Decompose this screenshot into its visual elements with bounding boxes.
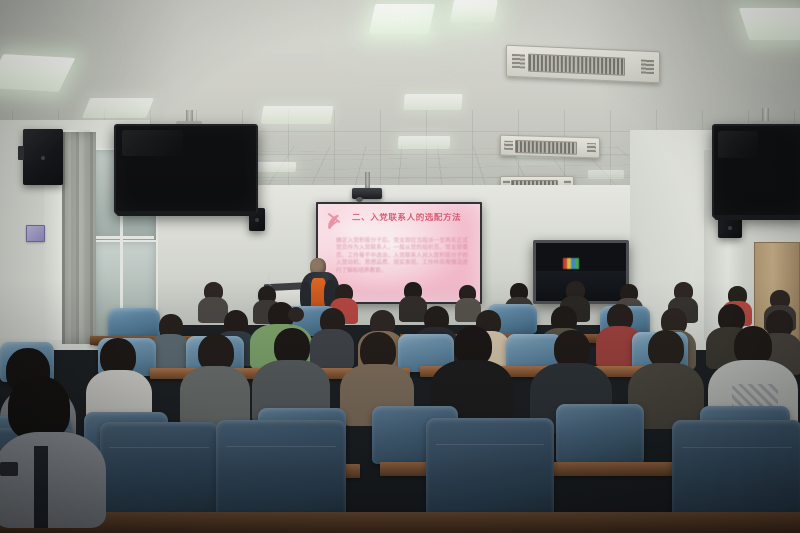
ceiling-light (398, 136, 451, 149)
ceiling-light (256, 162, 297, 172)
wall-speaker-right (718, 218, 742, 238)
speaker-cone (728, 226, 732, 230)
wall-mounted-display-right (712, 124, 800, 218)
wall-speaker-left (23, 129, 63, 185)
ceiling-light (403, 94, 462, 110)
communist-party-emblem-icon (324, 212, 346, 232)
vent-louver-left (504, 141, 513, 150)
speaker-cone (41, 156, 45, 160)
ceiling-light (450, 0, 498, 22)
screen-glare (718, 131, 758, 158)
vent-grille (515, 140, 578, 154)
wall-mounted-display-left (114, 124, 258, 214)
ceiling-light (588, 170, 624, 179)
floor-shadow (0, 280, 800, 533)
projector-stem (365, 172, 370, 189)
audience-area (0, 280, 800, 533)
lecture-hall-photo: 二、入党联系人的选配方法 确定入党积极分子后，党支部应当指派一至两名正式党员作为… (0, 0, 800, 533)
window-mullion-horizontal (92, 236, 154, 239)
ceiling-light (369, 4, 435, 34)
screen-glare (122, 130, 184, 156)
tv-bezel-bottom (714, 215, 800, 220)
vent-louver-right (587, 143, 596, 152)
ceiling-light (261, 106, 334, 124)
ceiling-ac-vent-1 (506, 45, 660, 84)
vent-grille (528, 53, 624, 76)
tv-bezel-bottom (116, 211, 256, 216)
slide-title: 二、入党联系人的选配方法 (352, 213, 474, 223)
ceiling-light (82, 98, 154, 118)
vent-louver-right (641, 59, 655, 74)
ceiling-light (739, 8, 800, 40)
slide-body-text: 确定入党积极分子后，党支部应当指派一至两名正式党员作为入党联系人，一般从党的组织… (336, 238, 468, 275)
ceiling-ac-vent-2 (500, 135, 600, 159)
speaker-cone (255, 218, 259, 222)
monitor-image-thumbnail (563, 258, 579, 269)
wall-placard-sign (26, 225, 45, 242)
speaker-bracket (18, 146, 24, 161)
vent-louver-left (512, 54, 526, 69)
